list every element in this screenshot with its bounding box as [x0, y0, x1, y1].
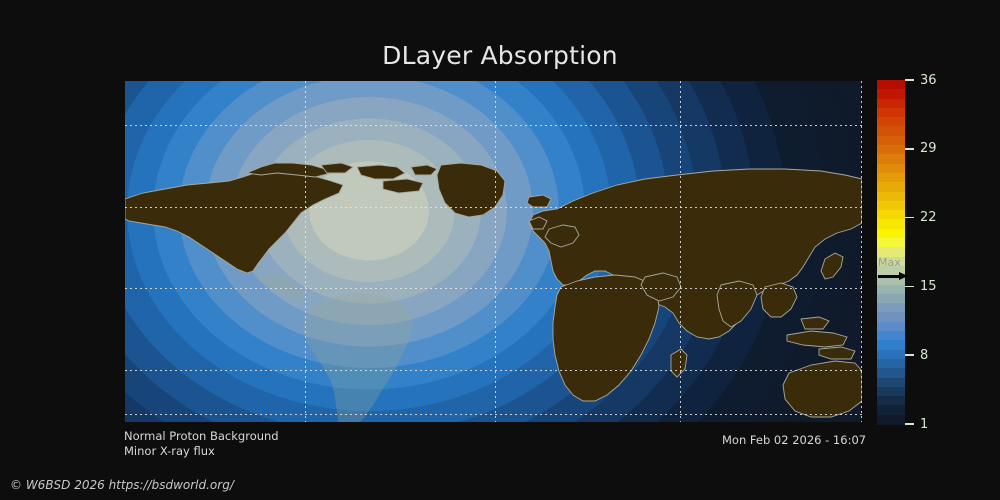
colorbar-gradient	[877, 80, 905, 424]
application-root: DLayer Absorption	[0, 0, 1000, 500]
colorbar-tick: 1	[905, 418, 928, 430]
max-marker-label: Max	[878, 257, 901, 269]
landmasses	[125, 163, 862, 422]
proton-status: Normal Proton Background	[124, 429, 279, 444]
timestamp: Mon Feb 02 2026 - 16:07	[722, 433, 866, 447]
colorbar-title: Affected Frequency (MHz)	[930, 80, 1000, 424]
colorbar-max-marker: Max	[877, 258, 911, 282]
colorbar[interactable]	[877, 80, 905, 424]
copyright-footer: © W6BSD 2026 https://bsdworld.org/	[10, 478, 234, 492]
world-map[interactable]	[125, 81, 862, 422]
status-captions: Normal Proton Background Minor X-ray flu…	[124, 429, 279, 459]
colorbar-segment	[877, 415, 905, 425]
continents-layer	[125, 81, 862, 422]
max-marker-arrow-icon	[878, 272, 908, 280]
xray-status: Minor X-ray flux	[124, 444, 279, 459]
colorbar-tick: 8	[905, 349, 928, 361]
page-title: DLayer Absorption	[0, 41, 1000, 70]
